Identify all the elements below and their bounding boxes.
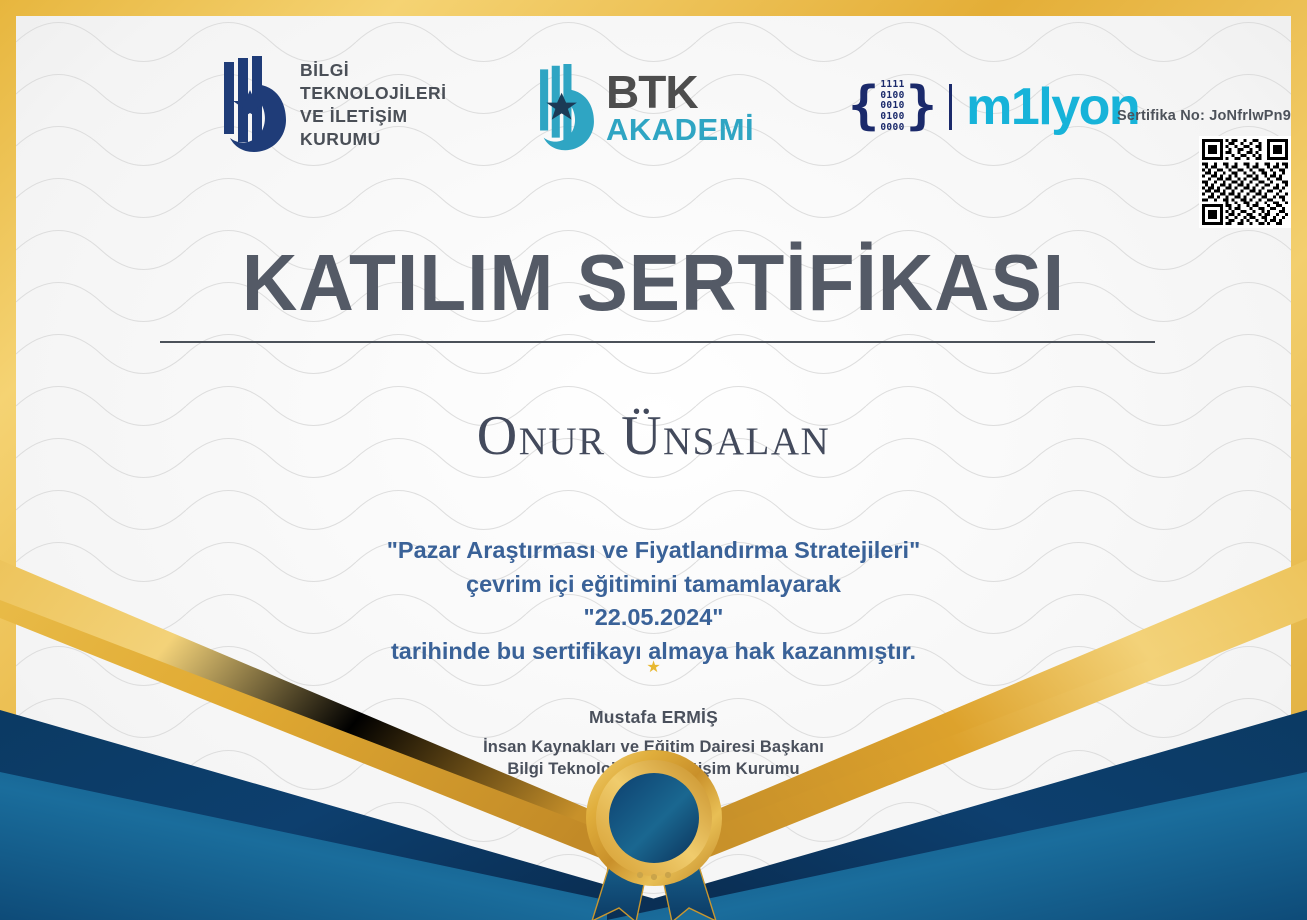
signatory-role: İnsan Kaynakları ve Eğitim Dairesi Başka… [0, 737, 1307, 759]
milyon-wordmark: m1lyon [966, 81, 1139, 133]
qr-code-icon [1202, 139, 1288, 225]
certificate-number: Sertifika No: JoNfrlwPn9 [1117, 108, 1291, 124]
title-divider [160, 341, 1155, 343]
certificate: BİLGİ TEKNOLOJİLERİ VE İLETİŞİM KURUMU B… [0, 0, 1307, 920]
certificate-content: BİLGİ TEKNOLOJİLERİ VE İLETİŞİM KURUMU B… [0, 0, 1307, 920]
btk-crescent-star-logo [222, 56, 286, 154]
signatory-organization: Bilgi Teknolojileri ve İletişim Kurumu [0, 759, 1307, 781]
logo-row: BİLGİ TEKNOLOJİLERİ VE İLETİŞİM KURUMU B… [0, 48, 1307, 168]
qr-code[interactable] [1199, 136, 1291, 228]
course-title: "Pazar Araştırması ve Fiyatlandırma Stra… [0, 534, 1307, 568]
body-line-2: çevrim içi eğitimini tamamlayarak [0, 568, 1307, 602]
milyon-divider [949, 84, 952, 130]
binary-digits: 1111 0100 0010 0100 0000 [879, 80, 905, 133]
signatory-name: Mustafa ERMİŞ [0, 707, 1307, 728]
btk-akademi-logo: BTK AKADEMİ [538, 64, 754, 152]
certificate-body: "Pazar Araştırması ve Fiyatlandırma Stra… [0, 534, 1307, 668]
btk-akademi-wordmark: BTK AKADEMİ [606, 71, 754, 144]
akademi-primary: BTK [606, 71, 754, 113]
btk-akademi-crescent-star-logo [538, 64, 596, 152]
brace-close: } [906, 86, 937, 128]
brace-open: { [848, 86, 879, 128]
signature-block: Mustafa ERMİŞ İnsan Kaynakları ve Eğitim… [0, 707, 1307, 781]
btk-wordmark: BİLGİ TEKNOLOJİLERİ VE İLETİŞİM KURUMU [300, 59, 447, 151]
recipient-name: Onur Ünsalan [0, 404, 1307, 468]
akademi-secondary: AKADEMİ [606, 114, 754, 145]
page-title: KATILIM SERTİFİKASI [26, 243, 1281, 323]
completion-date: "22.05.2024" [0, 601, 1307, 635]
binary-brace-icon: { 1111 0100 0010 0100 0000 } [848, 80, 937, 133]
btk-logo: BİLGİ TEKNOLOJİLERİ VE İLETİŞİM KURUMU [222, 56, 447, 154]
star-icon: ★ [0, 660, 1307, 676]
milyon-logo: { 1111 0100 0010 0100 0000 } m1lyon [848, 80, 1139, 133]
